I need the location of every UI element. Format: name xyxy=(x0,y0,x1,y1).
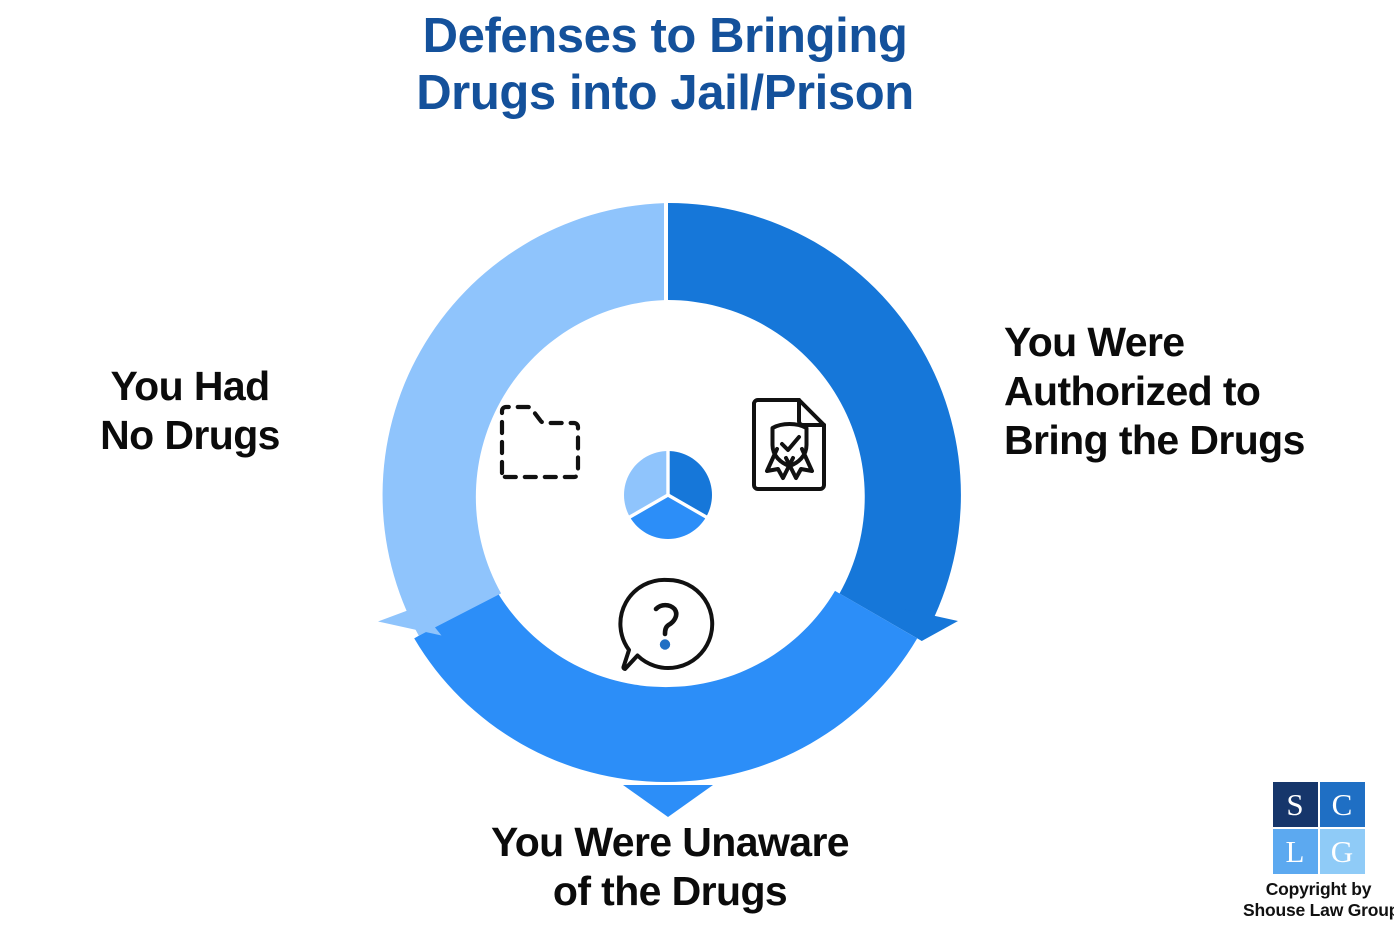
segment-label-no-drugs: You Had No Drugs xyxy=(40,362,340,460)
logo-cell-g: G xyxy=(1320,829,1365,874)
page-title: Defenses to Bringing Drugs into Jail/Pri… xyxy=(0,8,1330,122)
certificate-document-icon xyxy=(754,400,824,489)
donut-segment-authorized[interactable] xyxy=(668,203,961,641)
page-title-line-2: Drugs into Jail/Prison xyxy=(0,65,1330,122)
logo-letter-grid: S C L G xyxy=(1273,782,1365,874)
segment-label-unaware-line-2: of the Drugs xyxy=(370,867,970,916)
page-title-line-1: Defenses to Bringing xyxy=(0,8,1330,65)
logo-cell-c: C xyxy=(1320,782,1365,827)
segment-label-unaware-line-1: You Were Unaware xyxy=(370,818,970,867)
donut-segment-no-drugs[interactable] xyxy=(378,203,664,636)
segment-label-authorized-line-1: You Were xyxy=(1004,318,1394,367)
defenses-donut-diagram xyxy=(370,197,970,817)
logo-cell-l: L xyxy=(1273,829,1318,874)
dashed-empty-folder-icon xyxy=(502,407,578,477)
segment-label-authorized-line-2: Authorized to xyxy=(1004,367,1394,416)
shouse-law-group-logo: S C L G Copyright by Shouse Law Group xyxy=(1243,782,1394,920)
infographic-canvas: Defenses to Bringing Drugs into Jail/Pri… xyxy=(0,0,1394,933)
segment-label-no-drugs-line-2: No Drugs xyxy=(40,411,340,460)
logo-cell-s: S xyxy=(1273,782,1318,827)
copyright-caption-line-1: Copyright by xyxy=(1243,879,1394,900)
copyright-caption: Copyright by Shouse Law Group xyxy=(1243,879,1394,920)
copyright-caption-line-2: Shouse Law Group xyxy=(1243,900,1394,921)
segment-label-no-drugs-line-1: You Had xyxy=(40,362,340,411)
segment-label-authorized: You Were Authorized to Bring the Drugs xyxy=(1004,318,1394,466)
center-mini-pie-chart xyxy=(624,450,712,539)
segment-label-unaware: You Were Unaware of the Drugs xyxy=(370,818,970,916)
segment-label-authorized-line-3: Bring the Drugs xyxy=(1004,416,1394,465)
question-speech-bubble-icon xyxy=(620,580,712,669)
